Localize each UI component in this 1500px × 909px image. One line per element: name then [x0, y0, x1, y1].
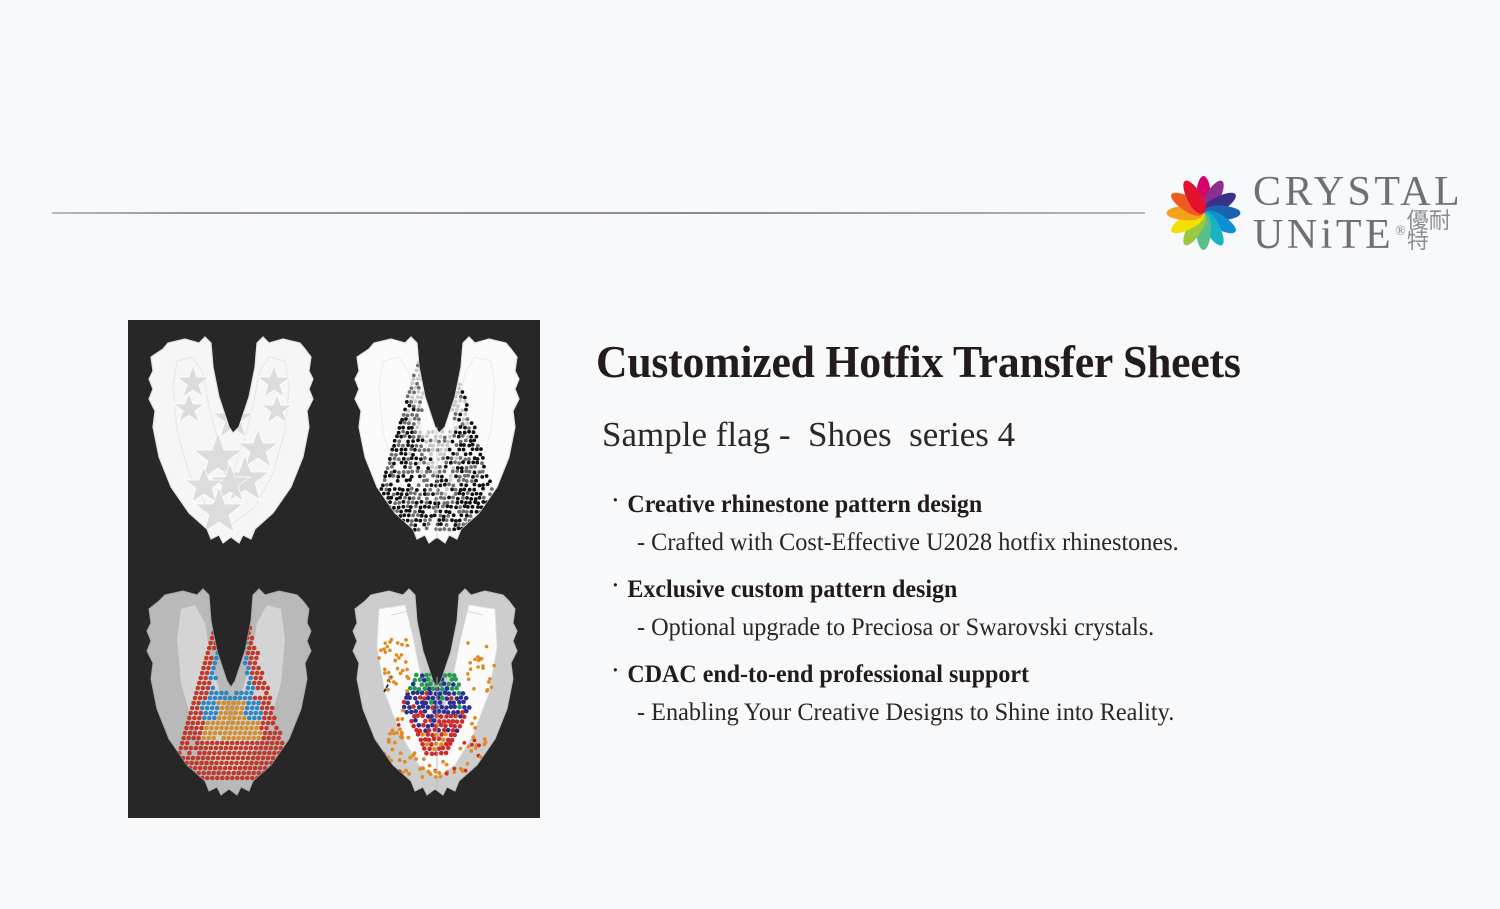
rhinestone — [444, 492, 448, 496]
rhinestone — [196, 701, 201, 706]
rhinestone — [461, 509, 465, 513]
rhinestone — [406, 457, 410, 461]
rhinestone — [481, 514, 485, 518]
rhinestone — [418, 448, 422, 452]
rhinestone — [427, 728, 432, 733]
rhinestone — [405, 431, 409, 435]
rhinestone — [264, 746, 269, 751]
rhinestone — [273, 731, 278, 736]
wordmark-chinese: 優耐特 — [1407, 212, 1463, 252]
rhinestone — [379, 487, 383, 491]
rhinestone — [420, 351, 424, 355]
rhinestone — [415, 700, 420, 705]
rhinestone — [424, 673, 429, 678]
rhinestone — [460, 470, 464, 474]
rhinestone — [406, 644, 410, 648]
rhinestone — [462, 443, 466, 447]
rhinestone — [488, 764, 492, 768]
rhinestone — [247, 681, 252, 686]
rhinestone — [255, 706, 260, 711]
rhinestone — [196, 686, 201, 691]
rhinestone — [213, 676, 218, 681]
page-title: Customized Hotfix Transfer Sheets — [596, 336, 1430, 388]
rhinestone — [492, 760, 496, 764]
rhinestone — [452, 767, 456, 771]
rhinestone — [412, 374, 416, 378]
rhinestone — [264, 691, 269, 696]
rhinestone — [475, 474, 479, 478]
rhinestone — [472, 488, 476, 492]
rhinestone — [270, 706, 275, 711]
rhinestone — [458, 431, 462, 435]
rhinestone — [439, 775, 443, 779]
rhinestone — [399, 751, 403, 755]
rhinestone — [375, 519, 379, 523]
rhinestone — [475, 523, 479, 527]
rhinestone — [400, 448, 404, 452]
rhinestone — [424, 514, 428, 518]
rhinestone — [464, 709, 469, 714]
rhinestone — [420, 408, 424, 412]
rhinestone — [209, 656, 214, 661]
rhinestone — [383, 478, 387, 482]
rhinestone — [250, 706, 255, 711]
rhinestone — [444, 355, 448, 359]
feature-bullet-heading-text: CDAC end-to-end professional support — [627, 661, 1029, 689]
rhinestone — [446, 352, 450, 356]
rhinestone — [263, 731, 268, 736]
rhinestone — [401, 444, 405, 448]
rhinestone — [437, 771, 441, 775]
rhinestone — [451, 728, 456, 733]
rhinestone — [401, 474, 405, 478]
rhinestone — [488, 479, 492, 483]
rhinestone — [407, 705, 412, 710]
rhinestone — [488, 677, 492, 681]
rhinestone — [416, 377, 420, 381]
rhinestone — [445, 686, 450, 691]
rhinestone — [402, 500, 406, 504]
rhinestone — [423, 456, 427, 460]
rhinestone — [205, 671, 210, 676]
rhinestone — [221, 736, 226, 741]
rhinestone — [481, 487, 485, 491]
rhinestone — [266, 771, 271, 776]
rhinestone — [426, 360, 430, 364]
rhinestone — [432, 506, 436, 510]
rhinestone — [404, 417, 408, 421]
rhinestone — [434, 672, 439, 677]
rhinestone — [470, 722, 474, 726]
rhinestone — [397, 457, 401, 461]
rhinestone — [241, 631, 246, 636]
feature-bullet-heading-text: Creative rhinestone pattern design — [627, 491, 982, 519]
rhinestone — [409, 719, 414, 724]
rhinestone — [489, 518, 493, 522]
rhinestone — [470, 479, 474, 483]
rhinestone — [481, 768, 485, 772]
rhinestone — [206, 701, 211, 706]
rhinestone — [452, 724, 457, 729]
rhinestone — [472, 439, 476, 443]
rhinestone — [238, 711, 243, 716]
rhinestone — [225, 741, 230, 746]
rhinestone — [381, 483, 385, 487]
rhinestone — [489, 500, 493, 504]
rhinestone — [205, 776, 210, 781]
rhinestone — [191, 756, 196, 761]
rhinestone — [453, 714, 458, 719]
rhinestone — [475, 510, 479, 514]
rhinestone — [429, 700, 434, 705]
rhinestone — [468, 488, 472, 492]
rhinestone — [461, 496, 465, 500]
rhinestone — [209, 746, 214, 751]
rhinestone — [195, 776, 200, 781]
rhinestone — [218, 606, 223, 611]
rhinestone — [469, 514, 473, 518]
rhinestone — [395, 448, 399, 452]
rhinestone — [473, 658, 477, 662]
rhinestone — [456, 710, 461, 715]
rhinestone — [452, 770, 456, 774]
rhinestone — [244, 656, 249, 661]
rhinestone — [410, 475, 414, 479]
rhinestone — [467, 430, 471, 434]
rhinestone — [411, 453, 415, 457]
rhinestone — [432, 718, 437, 723]
rhinestone — [408, 404, 412, 408]
rhinestone — [458, 413, 462, 417]
wordmark-unite: UNiTE — [1253, 216, 1394, 255]
rhinestone — [387, 671, 391, 675]
rhinestone — [420, 691, 425, 696]
rhinestone — [214, 726, 219, 731]
rhinestone — [379, 752, 383, 756]
rhinestone — [219, 691, 224, 696]
rhinestone — [228, 696, 233, 701]
rhinestone — [438, 452, 442, 456]
rhinestone — [456, 404, 460, 408]
rhinestone — [454, 686, 459, 691]
rhinestone — [218, 766, 223, 771]
rhinestone — [239, 761, 244, 766]
rhinestone — [460, 768, 464, 772]
rhinestone — [203, 696, 208, 701]
rhinestone — [236, 736, 241, 741]
rhinestone — [472, 687, 476, 691]
rhinestone — [401, 505, 405, 509]
rhinestone — [253, 766, 258, 771]
rhinestone — [263, 766, 268, 771]
rhinestone — [457, 491, 461, 495]
rhinestone — [208, 766, 213, 771]
rhinestone — [413, 417, 417, 421]
rhinestone — [275, 776, 280, 781]
rhinestone — [264, 726, 269, 731]
rhinestone — [205, 706, 210, 711]
rhinestone — [220, 741, 225, 746]
rhinestone — [417, 705, 422, 710]
rhinestone — [494, 518, 498, 522]
rhinestone — [421, 360, 425, 364]
rhinestone — [414, 462, 418, 466]
rhinestone — [459, 440, 463, 444]
rhinestone — [465, 510, 469, 514]
rhinestone — [426, 466, 430, 470]
rhinestone — [455, 728, 460, 733]
rhinestone — [466, 417, 470, 421]
rhinestone — [276, 736, 281, 741]
rhinestone — [204, 746, 209, 751]
rhinestone — [452, 733, 457, 738]
rhinestone — [203, 731, 208, 736]
rhinestone — [395, 434, 399, 438]
rhinestone — [468, 775, 472, 779]
feature-bullet-heading-text: Exclusive custom pattern design — [627, 576, 957, 604]
rhinestone — [431, 696, 436, 701]
rhinestone — [206, 736, 211, 741]
rhinestone — [457, 705, 462, 710]
rhinestone — [411, 704, 416, 709]
rhinestone — [426, 677, 431, 682]
rhinestone — [219, 761, 224, 766]
rhinestone — [488, 510, 492, 514]
rhinestone — [409, 710, 414, 715]
rhinestone — [410, 456, 414, 460]
rhinestone — [450, 377, 454, 381]
rhinestone — [233, 731, 238, 736]
rhinestone — [249, 726, 254, 731]
rhinestone — [481, 456, 485, 460]
rhinestone — [211, 756, 216, 761]
rhinestone — [451, 466, 455, 470]
rhinestone — [383, 774, 387, 778]
rhinestone — [201, 721, 206, 726]
rhinestone — [420, 775, 424, 779]
rhinestone — [467, 461, 471, 465]
rhinestone — [457, 700, 462, 705]
rhinestone — [446, 728, 451, 733]
rhinestone — [411, 439, 415, 443]
rhinestone — [395, 509, 399, 513]
rhinestone — [208, 641, 213, 646]
rhinestone — [222, 751, 227, 756]
rhinestone — [419, 505, 423, 509]
rhinestone — [368, 528, 372, 532]
rhinestone — [479, 523, 483, 527]
rhinestone — [404, 526, 408, 530]
rhinestone — [473, 426, 477, 430]
rhinestone — [265, 706, 270, 711]
rhinestone — [206, 686, 211, 691]
rhinestone — [447, 496, 451, 500]
rhinestone — [214, 746, 219, 751]
rhinestone — [474, 479, 478, 483]
rhinestone — [383, 668, 387, 672]
rhinestone — [444, 751, 449, 756]
rhinestone — [452, 513, 456, 517]
rhinestone — [454, 426, 458, 430]
rhinestone — [415, 425, 419, 429]
rhinestone — [437, 746, 442, 751]
rhinestone — [400, 731, 404, 735]
rhinestone — [448, 478, 452, 482]
rhinestone — [261, 686, 266, 691]
rhinestone — [250, 671, 255, 676]
rhinestone — [414, 518, 418, 522]
rhinestone — [223, 766, 228, 771]
rhinestone — [396, 492, 400, 496]
rhinestone — [439, 522, 443, 526]
rhinestone — [452, 434, 456, 438]
rhinestone — [417, 390, 421, 394]
rhinestone — [433, 514, 437, 518]
rhinestone — [393, 501, 397, 505]
rhinestone — [455, 696, 460, 701]
rhinestone — [422, 474, 426, 478]
rhinestone — [440, 492, 444, 496]
rhinestone — [399, 523, 403, 527]
rhinestone — [426, 462, 430, 466]
rhinestone — [465, 496, 469, 500]
rhinestone — [198, 731, 203, 736]
rhinestone — [243, 606, 248, 611]
rhinestone — [432, 727, 437, 732]
rhinestone — [473, 483, 477, 487]
rhinestone — [401, 430, 405, 434]
rhinestone — [414, 504, 418, 508]
rhinestone — [188, 711, 193, 716]
rhinestone — [481, 470, 485, 474]
rhinestone — [427, 505, 431, 509]
rhinestone — [421, 704, 426, 709]
rhinestone — [486, 527, 490, 531]
rhinestone — [249, 746, 254, 751]
rhinestone — [413, 696, 418, 701]
rhinestone — [460, 390, 464, 394]
rhinestone — [274, 761, 279, 766]
rhinestone — [475, 461, 479, 465]
rhinestone — [208, 676, 213, 681]
rhinestone — [204, 691, 209, 696]
rhinestone — [428, 682, 433, 687]
rhinestone — [437, 518, 441, 522]
rhinestone — [441, 443, 445, 447]
rhinestone — [228, 731, 233, 736]
rhinestone — [472, 518, 476, 522]
rhinestone — [446, 682, 451, 687]
rhinestone — [390, 514, 394, 518]
page-subtitle: Sample flag - Shoes series 4 — [602, 415, 1456, 455]
rhinestone — [446, 719, 451, 724]
rhinestone — [206, 721, 211, 726]
rhinestone — [242, 716, 247, 721]
rhinestone — [442, 719, 447, 724]
rhinestone — [239, 621, 244, 626]
rhinestone — [449, 723, 454, 728]
rhinestone — [431, 444, 435, 448]
rhinestone — [212, 646, 217, 651]
rhinestone — [486, 482, 490, 486]
rhinestone — [478, 453, 482, 457]
rhinestone — [417, 386, 421, 390]
rhinestone — [252, 681, 257, 686]
rhinestone — [425, 470, 429, 474]
rhinestone — [383, 641, 387, 645]
rhinestone — [414, 673, 419, 678]
rhinestone — [425, 364, 429, 368]
rhinestone — [428, 518, 432, 522]
rhinestone — [228, 766, 233, 771]
rhinestone — [370, 518, 374, 522]
rhinestone — [471, 443, 475, 447]
rhinestone — [384, 650, 388, 654]
rhinestone — [239, 746, 244, 751]
rhinestone — [210, 636, 215, 641]
rhinestone — [427, 738, 432, 743]
rhinestone — [250, 636, 255, 641]
rhinestone — [290, 776, 295, 781]
rhinestone — [460, 466, 464, 470]
rhinestone — [445, 696, 450, 701]
rhinestone — [425, 732, 430, 737]
rhinestone — [430, 483, 434, 487]
rhinestone — [467, 745, 471, 749]
rhinestone — [448, 435, 452, 439]
rhinestone — [386, 492, 390, 496]
rhinestone — [485, 514, 489, 518]
rhinestone — [438, 509, 442, 513]
rhinestone — [450, 382, 454, 386]
rhinestone — [195, 741, 200, 746]
rhinestone — [385, 645, 389, 649]
rhinestone — [393, 659, 397, 663]
rhinestone — [227, 716, 232, 721]
rhinestone — [469, 667, 473, 671]
rhinestone — [403, 421, 407, 425]
rhinestone — [464, 769, 468, 773]
rhinestone — [244, 691, 249, 696]
rhinestone — [268, 731, 273, 736]
rhinestone — [461, 691, 466, 696]
rhinestone — [426, 696, 431, 701]
rhinestone — [251, 721, 256, 726]
rhinestone — [406, 409, 410, 413]
rhinestone — [457, 461, 461, 465]
rhinestone — [445, 369, 449, 373]
rhinestone — [230, 706, 235, 711]
rhinestone — [446, 378, 450, 382]
rhinestone — [245, 741, 250, 746]
rhinestone — [404, 769, 408, 773]
rhinestone — [420, 470, 424, 474]
rhinestone — [443, 732, 448, 737]
rhinestone — [236, 756, 241, 761]
rhinestone — [423, 448, 427, 452]
rhinestone — [418, 400, 422, 404]
rhinestone — [198, 766, 203, 771]
rhinestone — [385, 760, 389, 764]
rhinestone — [213, 731, 218, 736]
rhinestone — [255, 671, 260, 676]
rhinestone — [194, 761, 199, 766]
rhinestone — [450, 457, 454, 461]
rhinestone — [468, 501, 472, 505]
rhinestone — [251, 666, 256, 671]
rhinestone — [238, 626, 243, 631]
rhinestone — [386, 509, 390, 513]
